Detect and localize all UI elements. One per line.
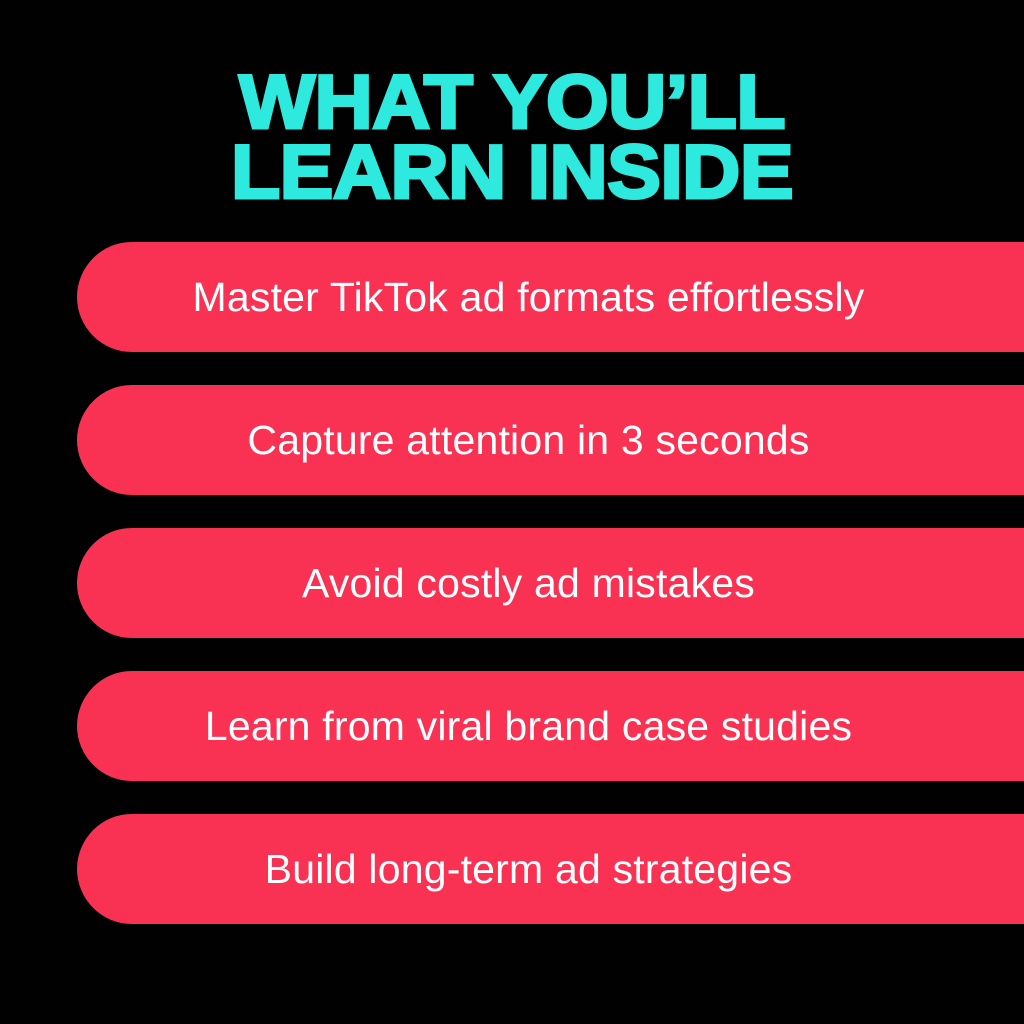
benefit-list: Master TikTok ad formats effortlessly Ca… [0,242,1024,924]
list-item-label: Capture attention in 3 seconds [77,385,1024,495]
list-item: Capture attention in 3 seconds [77,385,1024,495]
page-title-line-2: LEARN INSIDE [0,142,1024,204]
list-item-label: Learn from viral brand case studies [77,671,1024,781]
page-title: WHAT YOU’LL LEARN INSIDE [0,72,1024,204]
list-item: Build long-term ad strategies [77,814,1024,924]
list-item-label: Master TikTok ad formats effortlessly [77,242,1024,352]
poster-canvas: WHAT YOU’LL LEARN INSIDE Master TikTok a… [0,0,1024,1024]
list-item-label: Build long-term ad strategies [77,814,1024,924]
page-title-line-1: WHAT YOU’LL [0,72,1024,134]
list-item: Avoid costly ad mistakes [77,528,1024,638]
list-item: Learn from viral brand case studies [77,671,1024,781]
list-item: Master TikTok ad formats effortlessly [77,242,1024,352]
list-item-label: Avoid costly ad mistakes [77,528,1024,638]
